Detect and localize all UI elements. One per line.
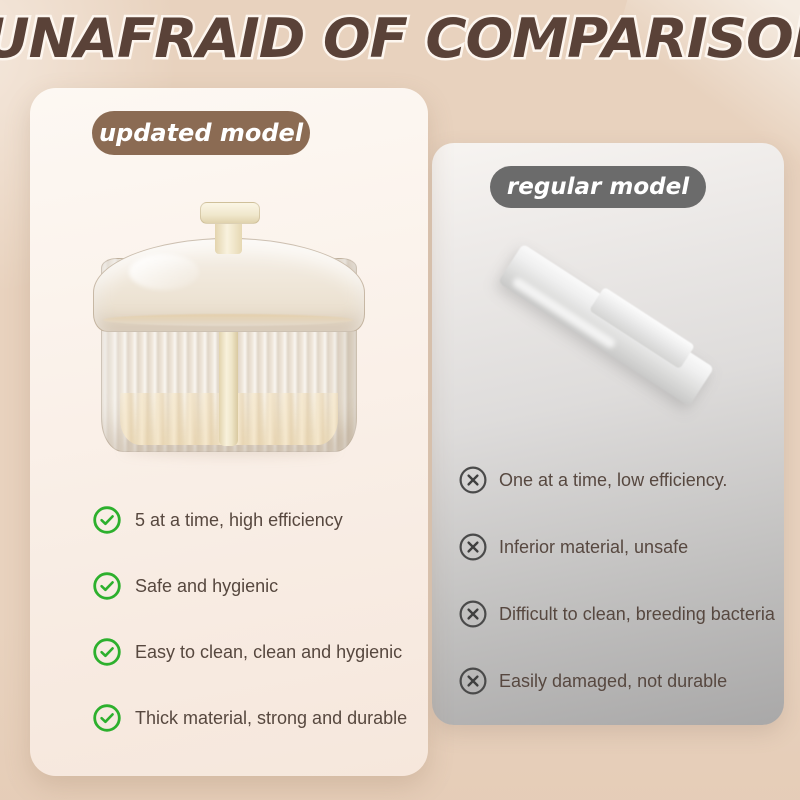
updated-model-feature-list: 5 at a time, high efficiency Safe and hy…: [92, 504, 412, 734]
check-circle-icon: [92, 703, 122, 733]
list-item: Easy to clean, clean and hygienic: [92, 636, 412, 668]
check-circle-icon: [92, 571, 122, 601]
list-item: One at a time, low efficiency.: [458, 464, 778, 496]
list-item-label: 5 at a time, high efficiency: [135, 510, 343, 530]
list-item: Easily damaged, not durable: [458, 665, 778, 697]
regular-model-badge: regular model: [490, 166, 706, 208]
list-item-label: Easily damaged, not durable: [499, 671, 727, 691]
x-circle-icon: [458, 666, 488, 696]
list-item: Thick material, strong and durable: [92, 702, 412, 734]
list-item: Inferior material, unsafe: [458, 531, 778, 563]
page-title: UNAFRAID OF COMPARISONS: [0, 12, 800, 66]
x-circle-icon: [458, 465, 488, 495]
list-item-label: Difficult to clean, breeding bacteria: [499, 604, 775, 624]
regular-model-product-image: [470, 230, 730, 430]
jar-knob-stem: [215, 220, 242, 254]
regular-model-feature-list: One at a time, low efficiency. Inferior …: [458, 464, 778, 732]
x-circle-icon: [458, 599, 488, 629]
list-item-label: Easy to clean, clean and hygienic: [135, 642, 402, 662]
check-circle-icon: [92, 637, 122, 667]
jar-rim: [103, 314, 353, 326]
jar-lid-highlight: [129, 254, 199, 290]
list-item-label: Thick material, strong and durable: [135, 708, 407, 728]
jar-knob: [200, 202, 260, 224]
comparison-infographic: UNAFRAID OF COMPARISONS regular model On…: [0, 0, 800, 800]
list-item-label: Inferior material, unsafe: [499, 537, 688, 557]
check-circle-icon: [92, 505, 122, 535]
list-item-label: Safe and hygienic: [135, 576, 278, 596]
list-item-label: One at a time, low efficiency.: [499, 470, 727, 490]
list-item: Safe and hygienic: [92, 570, 412, 602]
list-item: Difficult to clean, breeding bacteria: [458, 598, 778, 630]
updated-model-product-image: [93, 196, 365, 454]
list-item: 5 at a time, high efficiency: [92, 504, 412, 536]
updated-model-badge: updated model: [92, 111, 310, 155]
x-circle-icon: [458, 532, 488, 562]
plastic-stick-tool-icon: [498, 244, 714, 407]
